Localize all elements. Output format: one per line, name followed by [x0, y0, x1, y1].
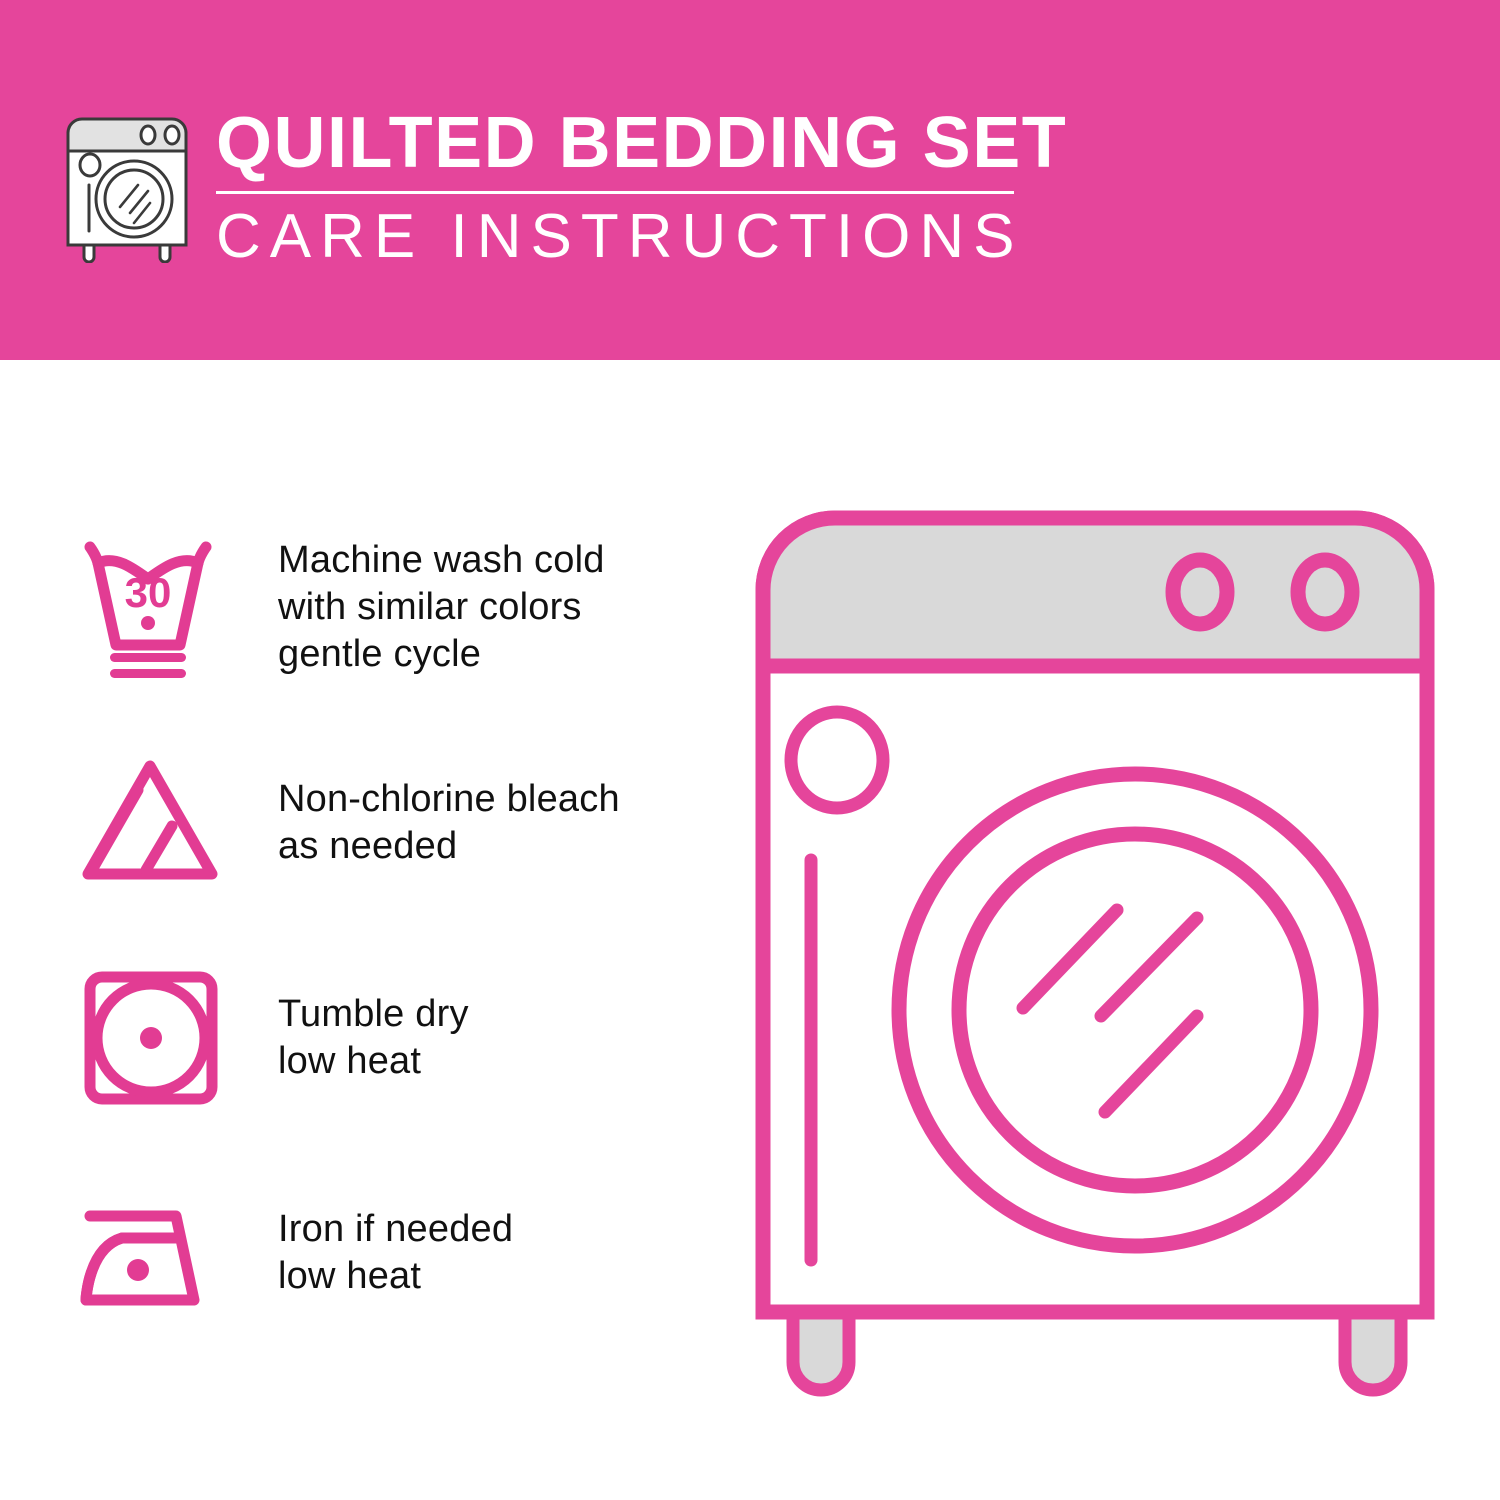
- instruction-line: Non-chlorine bleach: [278, 776, 620, 823]
- low-heat-dot: [140, 1027, 162, 1049]
- instruction-label-iron: Iron if needed low heat: [250, 1206, 513, 1300]
- tumble-dry-low-heat-icon: [70, 963, 250, 1113]
- detergent-button[interactable]: [791, 712, 883, 808]
- non-chlorine-bleach-triangle-icon: [70, 748, 250, 898]
- knob-left[interactable]: [1173, 560, 1227, 624]
- care-instructions-list: 30 Machine wash cold with similar colors…: [70, 500, 730, 1360]
- instruction-row-wash: 30 Machine wash cold with similar colors…: [70, 500, 730, 715]
- gentle-cycle-dot: [141, 616, 155, 630]
- page-title: QUILTED BEDDING SET: [216, 101, 1026, 185]
- header-text-block: QUILTED BEDDING SET CARE INSTRUCTIONS: [216, 101, 1026, 274]
- wash-temperature-value: 30: [125, 569, 172, 616]
- instruction-row-bleach: Non-chlorine bleach as needed: [70, 715, 730, 930]
- page-subtitle: CARE INSTRUCTIONS: [216, 200, 1026, 274]
- instruction-line: gentle cycle: [278, 631, 605, 678]
- instruction-line: Machine wash cold: [278, 537, 605, 584]
- instruction-line: Tumble dry: [278, 991, 469, 1038]
- instruction-row-tumble-dry: Tumble dry low heat: [70, 930, 730, 1145]
- instruction-line: low heat: [278, 1038, 469, 1085]
- wash-tub-30-gentle-icon: 30: [70, 533, 250, 683]
- iron-low-heat-icon: [70, 1178, 250, 1328]
- instruction-line: low heat: [278, 1253, 513, 1300]
- instruction-line: as needed: [278, 823, 620, 870]
- instruction-row-iron: Iron if needed low heat: [70, 1145, 730, 1360]
- instruction-line: Iron if needed: [278, 1206, 513, 1253]
- knob-right[interactable]: [1298, 560, 1352, 624]
- washing-machine-icon: [62, 103, 194, 263]
- gentle-bar-1: [110, 653, 186, 662]
- front-load-washing-machine-illustration: [745, 500, 1445, 1430]
- instruction-label-wash: Machine wash cold with similar colors ge…: [250, 537, 605, 678]
- low-heat-dot: [127, 1259, 149, 1281]
- gentle-bar-2: [110, 669, 186, 678]
- instruction-label-tumble-dry: Tumble dry low heat: [250, 991, 469, 1085]
- header-divider: [216, 191, 1014, 194]
- header-banner: QUILTED BEDDING SET CARE INSTRUCTIONS: [0, 0, 1500, 360]
- instruction-line: with similar colors: [278, 584, 605, 631]
- instruction-label-bleach: Non-chlorine bleach as needed: [250, 776, 620, 870]
